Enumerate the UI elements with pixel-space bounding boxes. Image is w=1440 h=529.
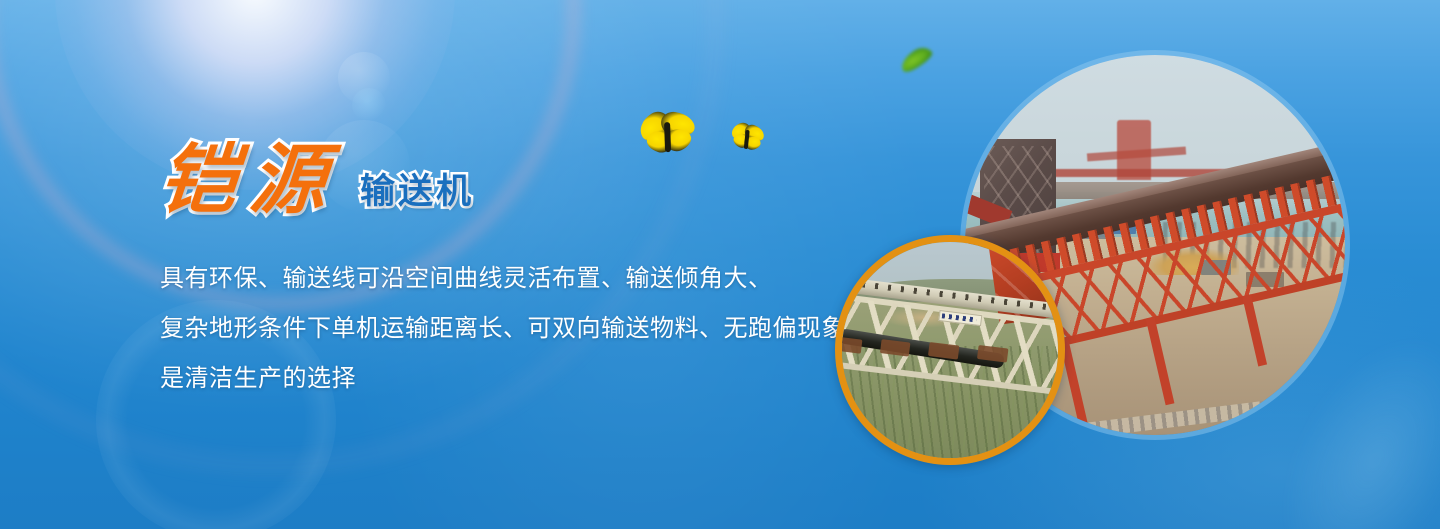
lens-flare-bubble	[352, 88, 386, 122]
hero-banner: 铠源 输送机 具有环保、输送线可沿空间曲线灵活布置、输送倾角大、 复杂地形条件下…	[0, 0, 1440, 529]
lens-flare-ring-outer	[0, 0, 720, 470]
photo-small-scene	[842, 242, 1058, 458]
leaf-icon	[897, 43, 934, 75]
support-leg	[1146, 317, 1175, 406]
brand-name: 铠源	[157, 142, 344, 218]
lens-flare-ring	[0, 0, 580, 310]
banner-headline: 铠源 输送机	[160, 142, 474, 218]
roller-bracket	[835, 337, 863, 354]
butterfly-wing	[744, 135, 762, 151]
butterfly-wing	[659, 110, 696, 138]
sun-glow	[55, 0, 455, 190]
butterfly-icon	[730, 122, 765, 151]
banner-description: 具有环保、输送线可沿空间曲线灵活布置、输送倾角大、 复杂地形条件下单机运输距离长…	[160, 254, 950, 404]
butterfly-body	[664, 122, 671, 152]
butterfly-icon	[637, 108, 698, 157]
lens-flare-bubble	[338, 52, 390, 104]
photo-small	[835, 235, 1065, 465]
lens-flare-bubble	[96, 300, 336, 529]
butterfly-wing	[731, 131, 752, 151]
support-leg	[1242, 294, 1267, 367]
butterfly-wing	[635, 107, 676, 146]
lens-flare-bubble	[318, 120, 410, 212]
butterfly-wing	[662, 124, 695, 155]
butterfly-wing	[742, 123, 766, 144]
butterfly-wing	[645, 127, 676, 155]
product-name: 输送机	[360, 174, 474, 218]
description-line-2: 复杂地形条件下单机运输距离长、可双向输送物料、无跑偏现象等特点，	[160, 304, 950, 354]
description-line-1: 具有环保、输送线可沿空间曲线灵活布置、输送倾角大、	[160, 254, 950, 304]
butterfly-wing	[730, 121, 753, 142]
description-line-3: 是清洁生产的选择	[160, 354, 950, 404]
cream-truss-conveyor	[835, 275, 1065, 458]
butterfly-body	[744, 130, 750, 149]
